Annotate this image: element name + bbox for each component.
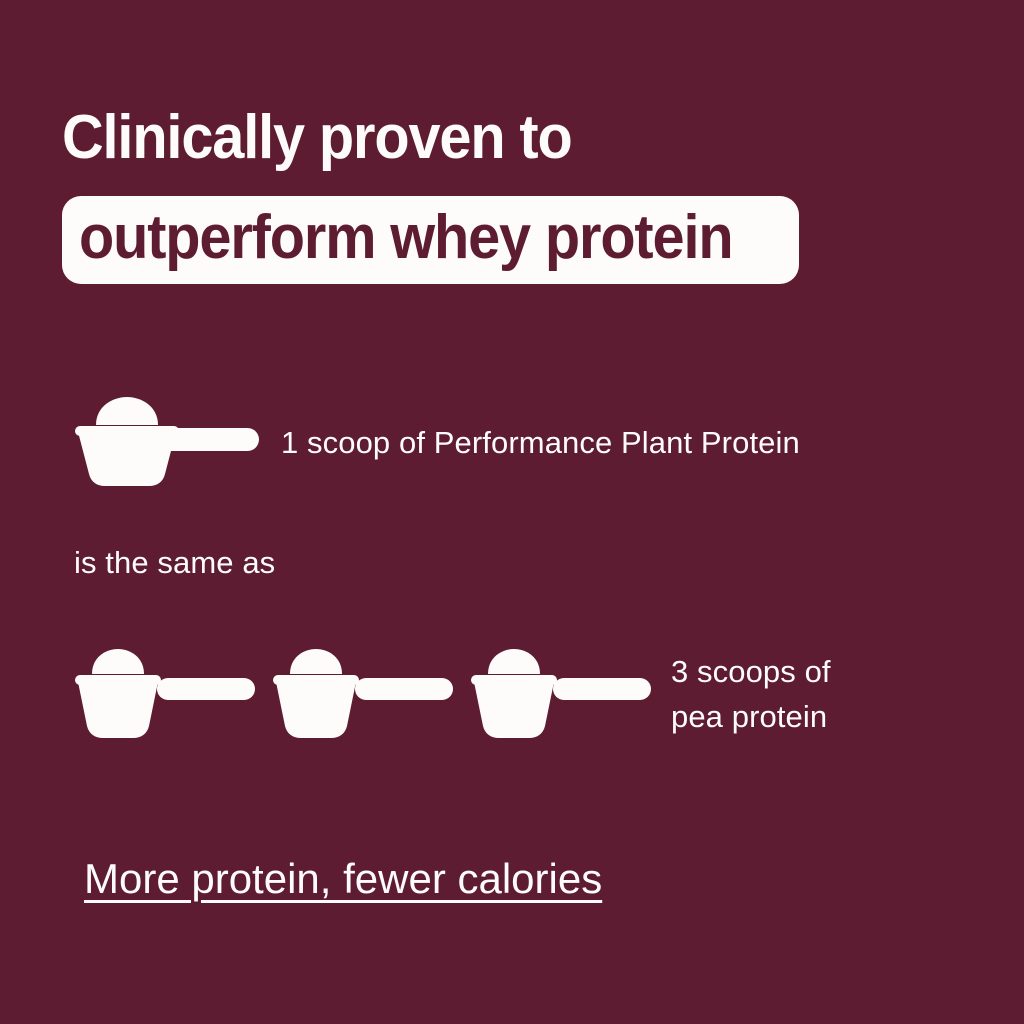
scoop-icon <box>273 648 455 740</box>
comparison-row-single: 1 scoop of Performance Plant Protein <box>75 396 800 488</box>
headline-block: Clinically proven to outperform whey pro… <box>62 104 962 284</box>
footer-claim: More protein, fewer calories <box>84 853 602 905</box>
scoop-icon <box>75 648 257 740</box>
promo-card: Clinically proven to outperform whey pro… <box>0 0 1024 1024</box>
comparison-row-triple: 3 scoops of pea protein <box>75 648 831 740</box>
scoop-group-single <box>75 396 261 488</box>
headline-line-2: outperform whey protein <box>79 205 732 271</box>
scoop-group-triple <box>75 648 653 740</box>
comparison-label-triple: 3 scoops of pea protein <box>671 649 831 739</box>
scoop-icon <box>471 648 653 740</box>
headline-highlight-pill: outperform whey protein <box>62 196 799 284</box>
scoop-icon <box>75 396 261 488</box>
comparison-label-single: 1 scoop of Performance Plant Protein <box>281 420 800 465</box>
headline-line-1: Clinically proven to <box>62 104 899 172</box>
comparison-connector-text: is the same as <box>74 542 275 584</box>
